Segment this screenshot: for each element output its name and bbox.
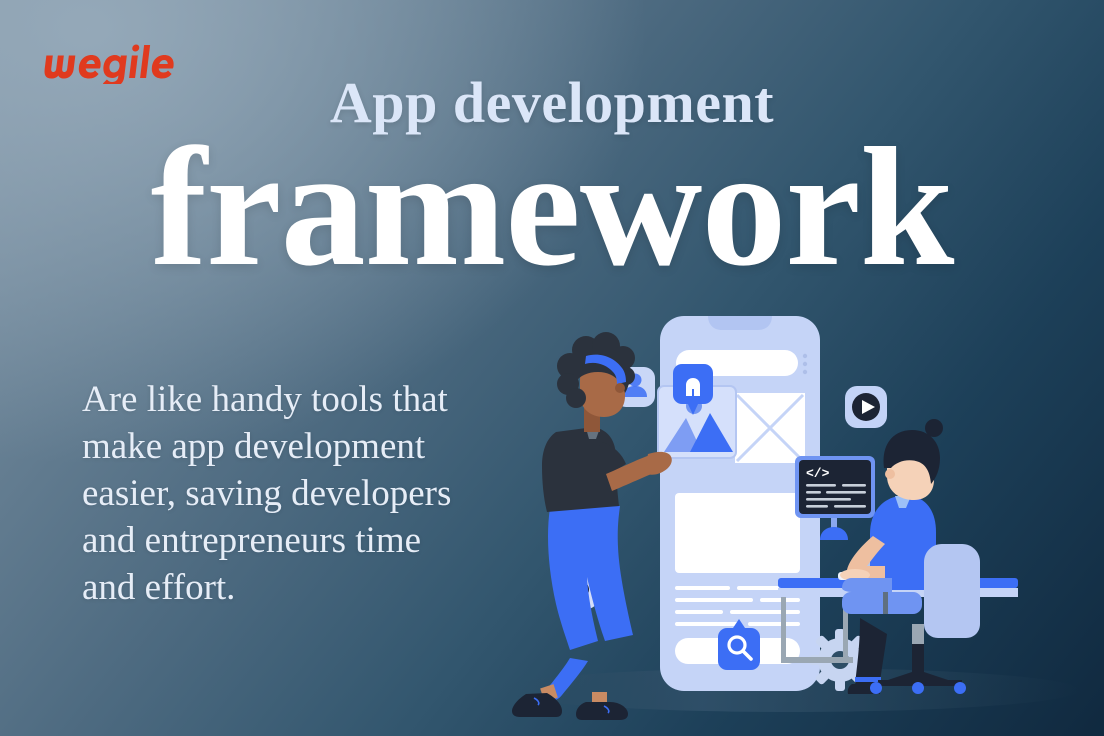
page-title: framework xyxy=(0,122,1104,292)
phone-placeholder-tile xyxy=(735,393,805,463)
phone-kebab-menu xyxy=(803,354,807,374)
monitor-code-symbol: </> xyxy=(806,466,830,481)
hero-illustration: </> xyxy=(490,288,1104,736)
phone-content-card xyxy=(675,493,800,573)
body-paragraph: Are like handy tools that make app devel… xyxy=(82,376,482,611)
banner-canvas: App development framework Are like handy… xyxy=(0,0,1104,736)
play-badge-icon xyxy=(845,386,887,428)
